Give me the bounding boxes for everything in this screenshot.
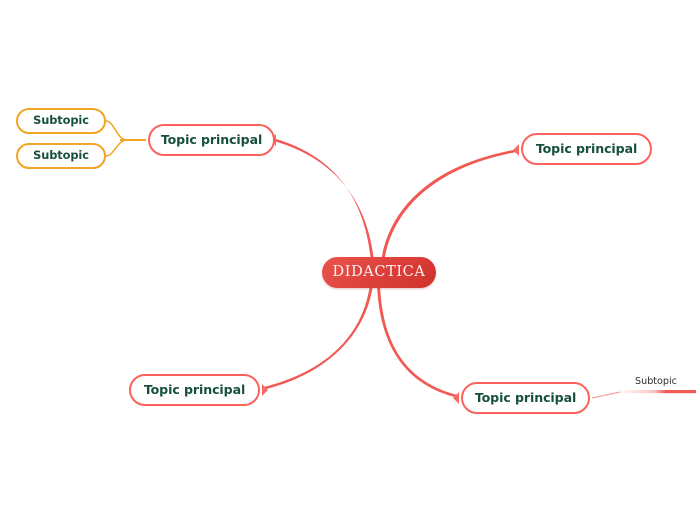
edge-arrow-topic-2 (513, 144, 519, 156)
edge-root-to-topic-1 (276, 139, 374, 262)
subtopic-node-label: Subtopic (33, 115, 89, 126)
subtopic-node-upper[interactable]: Subtopic (16, 108, 106, 134)
subtopic-3-underline (620, 390, 696, 393)
root-node-didactica[interactable]: DIDACTICA (322, 257, 436, 288)
root-node-label: DIDACTICA (333, 265, 426, 280)
subtopic-node-lower[interactable]: Subtopic (16, 143, 106, 169)
topic-node-upper-right[interactable]: Topic principal (521, 133, 652, 165)
topic-node-lower-left[interactable]: Topic principal (129, 374, 260, 406)
topic-node-lower-right[interactable]: Topic principal (461, 382, 590, 414)
topic-node-label: Topic principal (536, 143, 637, 156)
topic-node-label: Topic principal (475, 392, 576, 405)
subtopic-node-label: Subtopic (635, 377, 677, 387)
topic-node-upper-left[interactable]: Topic principal (148, 124, 275, 156)
mindmap-canvas[interactable]: DIDACTICA Topic principal Topic principa… (0, 0, 696, 520)
subtopic-node-label: Subtopic (33, 150, 89, 161)
edge-root-to-topic-2 (381, 149, 519, 262)
topic-node-label: Topic principal (161, 134, 262, 147)
edge-arrow-topic-3 (262, 384, 268, 396)
edge-topic1-to-subtopic-1 (106, 121, 146, 140)
edge-arrow-topic-4 (453, 392, 459, 404)
topic-node-label: Topic principal (144, 384, 245, 397)
edge-root-to-topic-4 (377, 284, 459, 398)
edge-topic4-to-subtopic-3 (592, 392, 620, 398)
subtopic-node-underlined[interactable]: Subtopic (622, 374, 690, 390)
edge-topic1-to-subtopic-2 (106, 140, 146, 156)
edge-root-to-topic-3 (262, 284, 373, 390)
